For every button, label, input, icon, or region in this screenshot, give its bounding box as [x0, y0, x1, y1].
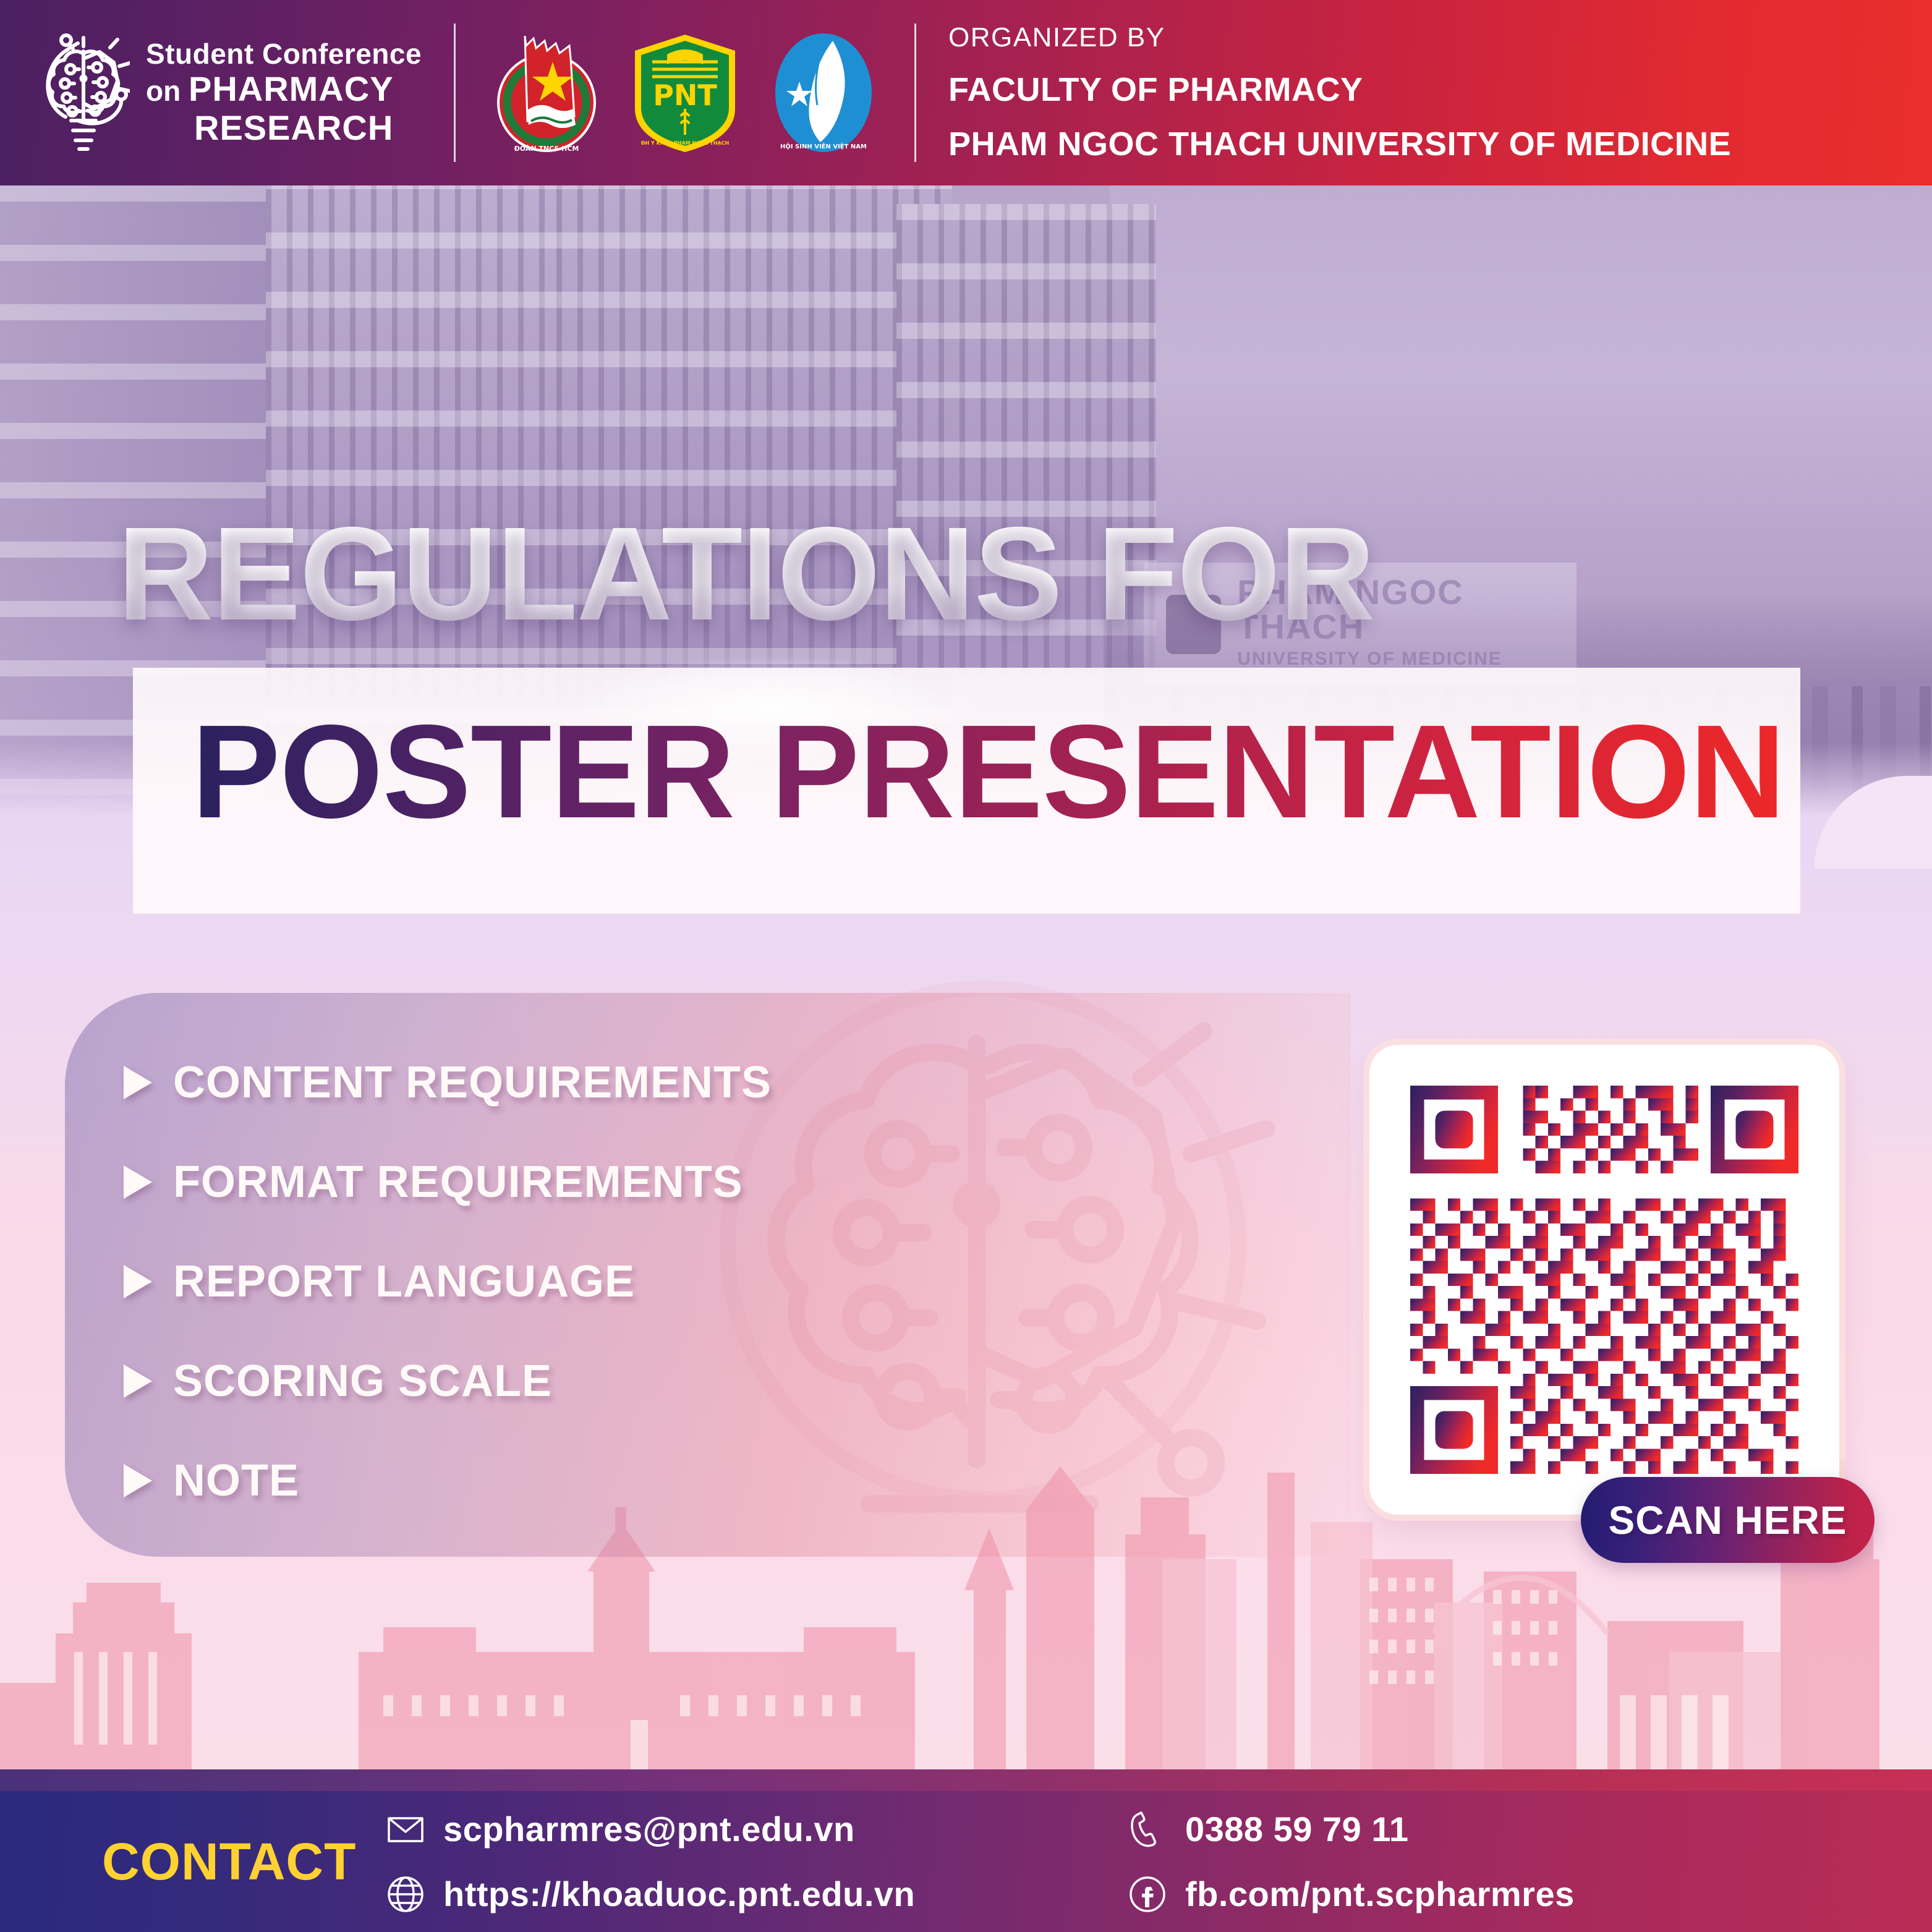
header-bar: Student Conference on PHARMACY RESEARCH [0, 0, 1932, 185]
conference-line1: Student Conference [146, 38, 422, 70]
header-divider-right [914, 23, 916, 162]
scan-here-button[interactable]: SCAN HERE [1581, 1477, 1875, 1563]
qr-code[interactable] [1398, 1073, 1811, 1486]
topics-panel: CONTENT REQUIREMENTS FORMAT REQUIREMENTS… [65, 993, 1351, 1557]
triangle-bullet-icon [124, 1364, 152, 1398]
envelope-icon [386, 1810, 425, 1849]
contact-label: CONTACT [102, 1832, 386, 1892]
conference-title: Student Conference on PHARMACY RESEARCH [146, 38, 422, 148]
list-item[interactable]: FORMAT REQUIREMENTS [124, 1132, 1351, 1232]
conference-line2-strong: PHARMACY [189, 69, 394, 108]
organizer-faculty: FACULTY OF PHARMACY [948, 70, 1731, 109]
topic-label: CONTENT REQUIREMENTS [173, 1057, 772, 1108]
contact-phone-row[interactable]: 0388 59 79 11 [1128, 1809, 1575, 1849]
contact-column-left: scpharmres@pnt.edu.vn https://khoaduoc.p… [386, 1809, 1128, 1914]
organization-crests: ĐOÀN TNCS HCM PNT ĐH Y KHOA PHẠM NGỌC TH… [488, 30, 882, 156]
organizer-university: PHAM NGOC THACH UNIVERSITY OF MEDICINE [948, 125, 1731, 163]
scan-here-label: SCAN HERE [1609, 1497, 1847, 1543]
topic-label: NOTE [173, 1455, 299, 1506]
conference-line2: on PHARMACY [146, 70, 422, 109]
list-item[interactable]: SCORING SCALE [124, 1331, 1351, 1431]
page-title-line2: POSTER PRESENTATION [192, 705, 1830, 838]
footer-accent-strip [0, 1769, 1932, 1794]
triangle-bullet-icon [124, 1066, 152, 1099]
vietnam-students-association-emblem: HỘI SINH VIÊN VIỆT NAM [765, 30, 882, 156]
triangle-bullet-icon [124, 1165, 152, 1199]
topic-label: SCORING SCALE [173, 1356, 552, 1406]
svg-text:HỘI SINH VIÊN VIỆT NAM: HỘI SINH VIÊN VIỆT NAM [780, 142, 867, 150]
organized-by-label: ORGANIZED BY [948, 22, 1731, 53]
topic-label: REPORT LANGUAGE [173, 1256, 635, 1307]
topics-list: CONTENT REQUIREMENTS FORMAT REQUIREMENTS… [124, 1032, 1351, 1530]
globe-icon [386, 1875, 425, 1913]
phone-icon [1128, 1810, 1167, 1849]
contact-facebook-row[interactable]: fb.com/pnt.scpharmres [1128, 1874, 1575, 1914]
poster-root: PHAM NGOC THACH UNIVERSITY OF MEDICINE [0, 0, 1932, 1932]
ho-chi-minh-communist-youth-union-emblem: ĐOÀN TNCS HCM [488, 30, 605, 156]
brain-lightbulb-icon [37, 27, 130, 160]
page-title-line1: REGULATIONS FOR [117, 507, 1842, 640]
qr-code-card[interactable] [1369, 1045, 1839, 1515]
conference-line2-prefix: on [146, 75, 181, 107]
contact-email-value: scpharmres@pnt.edu.vn [443, 1809, 855, 1849]
contact-website-value: https://khoaduoc.pnt.edu.vn [443, 1874, 915, 1914]
header-divider-left [454, 23, 456, 162]
list-item[interactable]: NOTE [124, 1431, 1351, 1530]
svg-text:ĐOÀN TNCS HCM: ĐOÀN TNCS HCM [514, 145, 579, 153]
contact-website-row[interactable]: https://khoaduoc.pnt.edu.vn [386, 1874, 1128, 1914]
facebook-icon [1128, 1875, 1167, 1913]
conference-logo: Student Conference on PHARMACY RESEARCH [37, 27, 422, 160]
triangle-bullet-icon [124, 1464, 152, 1497]
triangle-bullet-icon [124, 1265, 152, 1298]
conference-line3: RESEARCH [146, 109, 422, 148]
contact-phone-value: 0388 59 79 11 [1185, 1809, 1409, 1849]
contact-email-row[interactable]: scpharmres@pnt.edu.vn [386, 1809, 1128, 1849]
pnt-university-emblem: PNT ĐH Y KHOA PHẠM NGỌC THẠCH [626, 30, 744, 156]
topic-label: FORMAT REQUIREMENTS [173, 1157, 743, 1207]
list-item[interactable]: CONTENT REQUIREMENTS [124, 1032, 1351, 1132]
footer-bar: CONTACT scpharmres@pnt.edu.vn [0, 1791, 1932, 1932]
svg-text:ĐH Y KHOA PHẠM NGỌC THẠCH: ĐH Y KHOA PHẠM NGỌC THẠCH [641, 140, 729, 146]
contact-column-right: 0388 59 79 11 fb.com/pnt.scpharmres [1128, 1809, 1575, 1914]
organizer-block: ORGANIZED BY FACULTY OF PHARMACY PHAM NG… [948, 22, 1731, 163]
contact-facebook-value: fb.com/pnt.scpharmres [1185, 1874, 1575, 1914]
list-item[interactable]: REPORT LANGUAGE [124, 1232, 1351, 1331]
svg-text:PNT: PNT [653, 79, 717, 112]
